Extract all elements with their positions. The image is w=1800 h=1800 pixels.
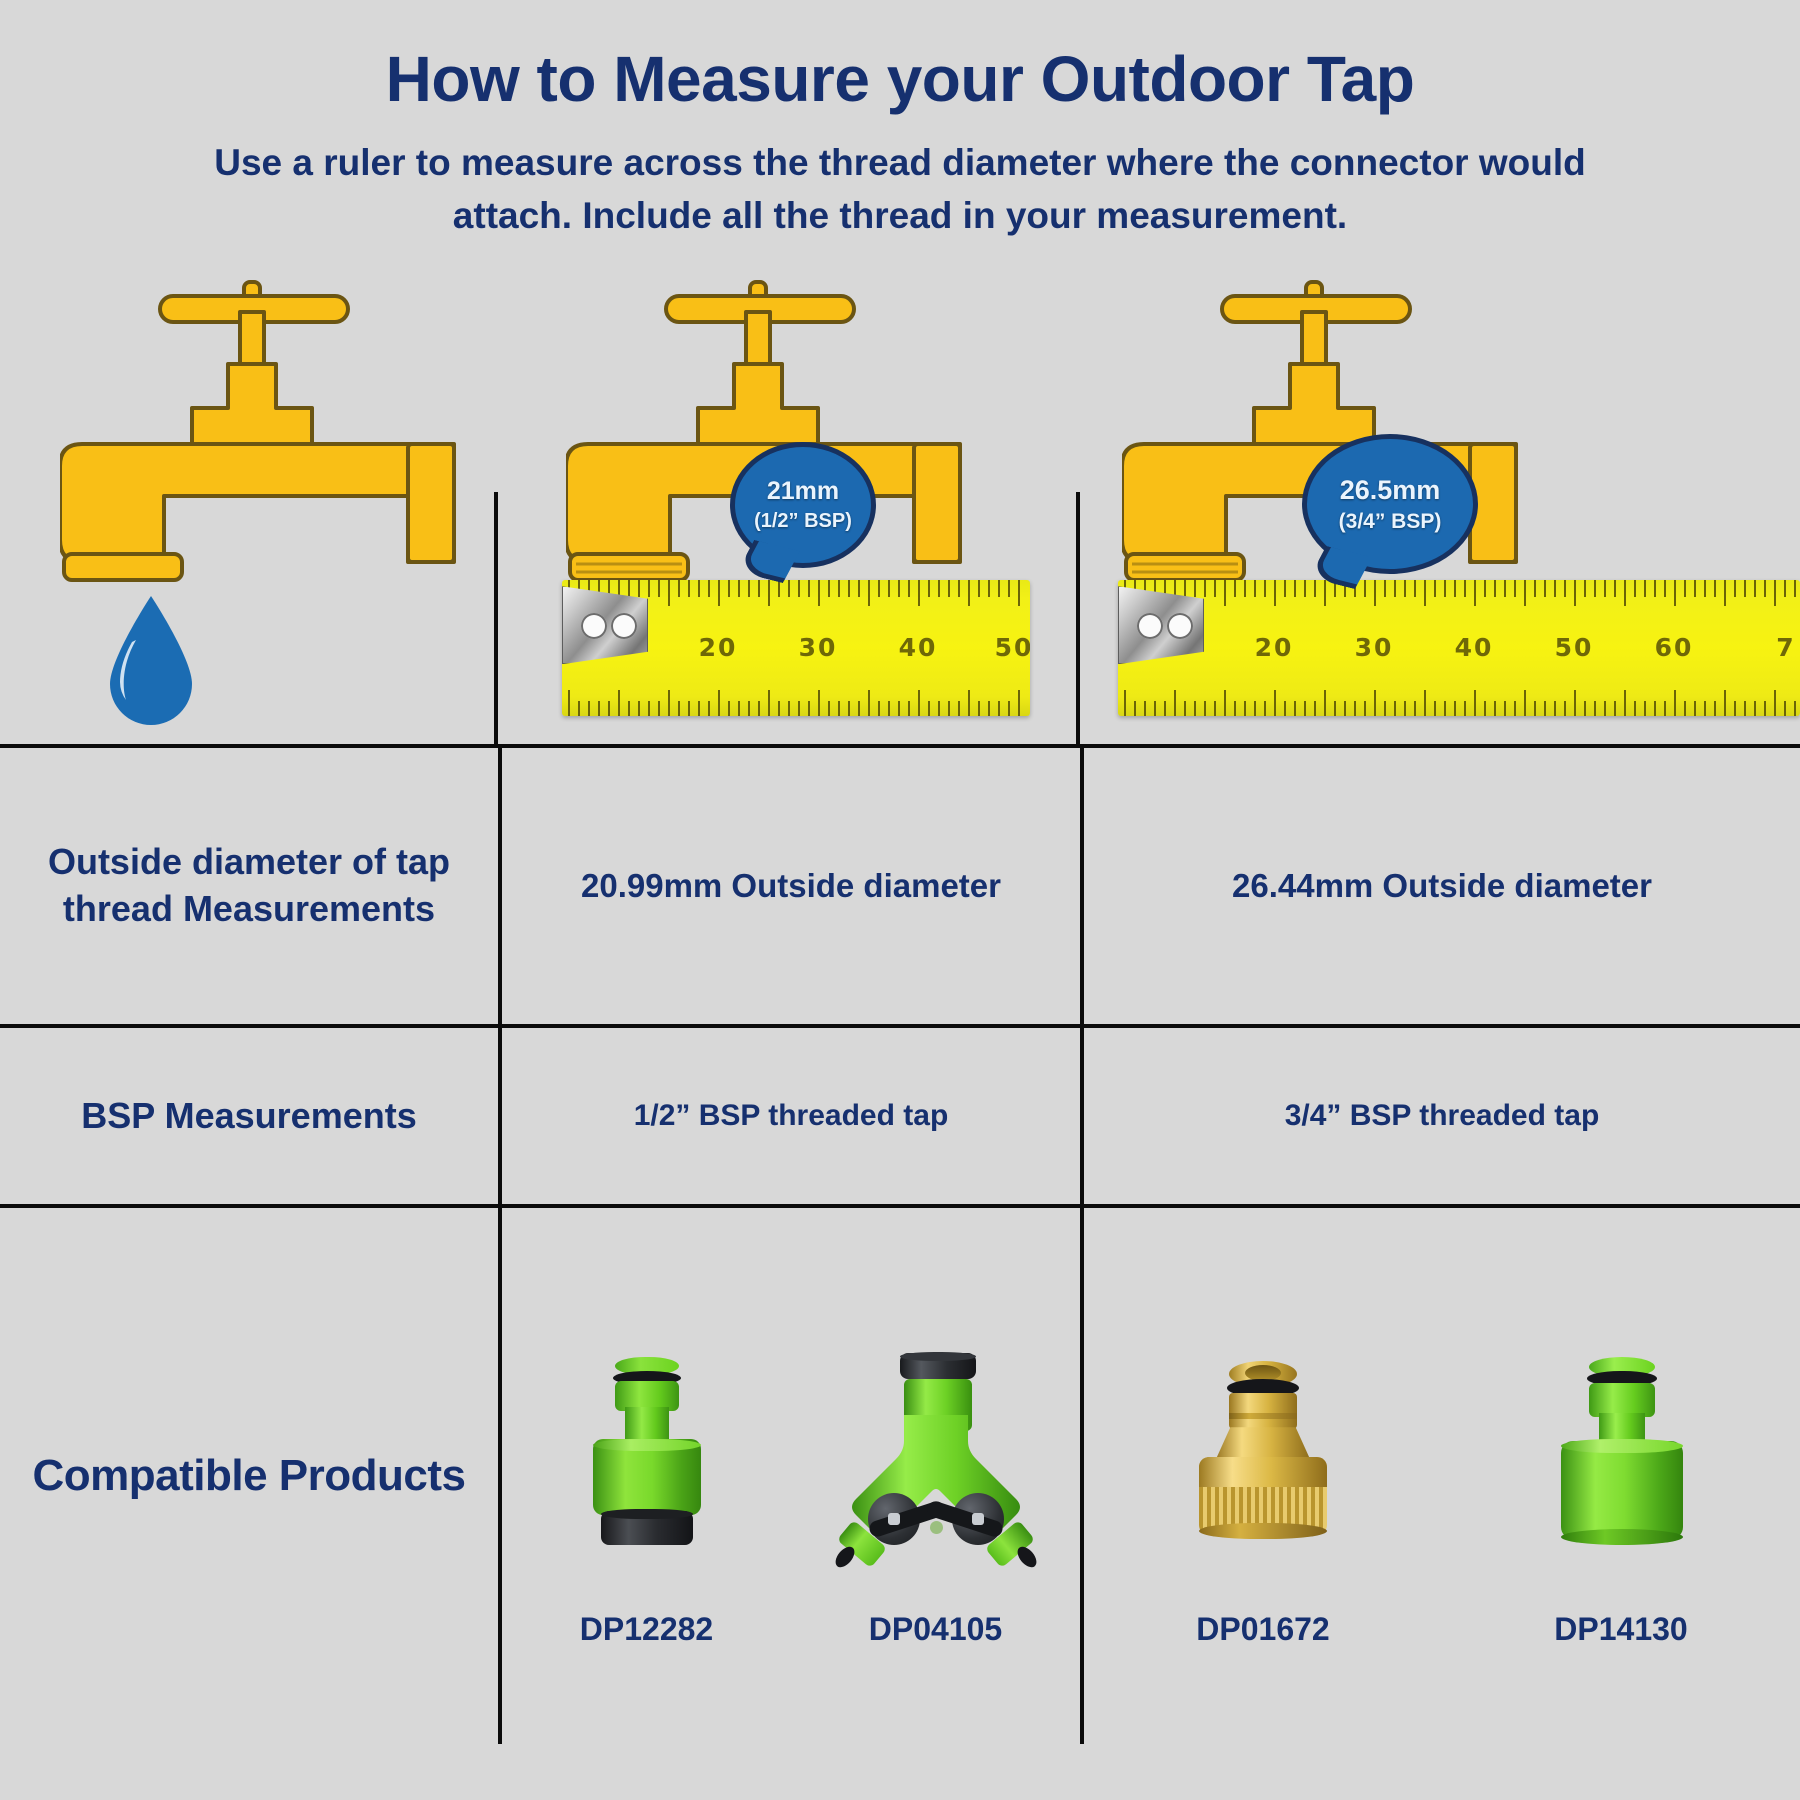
tape-ticks-bottom bbox=[1118, 690, 1800, 716]
product-dp12282[interactable]: DP12282 bbox=[547, 1353, 747, 1648]
cell-outside-diameter-three-quarter: 26.44mm Outside diameter bbox=[1080, 748, 1800, 1024]
tape-measure-half-inch: 20 30 40 50 bbox=[562, 580, 1030, 716]
bubble-main-value: 26.5mm bbox=[1340, 477, 1441, 504]
tape-ticks-top bbox=[1118, 580, 1800, 606]
tape-number: 20 bbox=[1255, 633, 1294, 662]
green-tap-connector-image bbox=[547, 1353, 747, 1593]
tape-number: 50 bbox=[995, 633, 1030, 662]
tape-hook-icon bbox=[562, 586, 648, 664]
comparison-table: Outside diameter of tap thread Measureme… bbox=[0, 744, 1800, 1744]
table-divider-left-upper bbox=[494, 492, 498, 744]
cell-products-three-quarter: DP01672 DP14130 bbox=[1080, 1208, 1800, 1744]
tape-measure-three-quarter: 20 30 40 50 60 7 bbox=[1118, 580, 1800, 716]
row-label-compatible-products: Compatible Products bbox=[0, 1208, 498, 1744]
tape-number: 50 bbox=[1555, 633, 1594, 662]
tape-number: 30 bbox=[799, 633, 838, 662]
tape-number: 30 bbox=[1355, 633, 1394, 662]
green-y-splitter-image bbox=[836, 1353, 1036, 1593]
table-row: Outside diameter of tap thread Measureme… bbox=[0, 744, 1800, 1024]
header: How to Measure your Outdoor Tap Use a ru… bbox=[0, 0, 1800, 242]
product-dp04105[interactable]: DP04105 bbox=[836, 1353, 1036, 1648]
tape-number: 60 bbox=[1655, 633, 1694, 662]
tape-number: 40 bbox=[1455, 633, 1494, 662]
bubble-main-value: 21mm bbox=[767, 479, 839, 504]
cell-products-half-inch: DP12282 bbox=[498, 1208, 1080, 1744]
tape-number: 40 bbox=[899, 633, 938, 662]
tape-number: 20 bbox=[699, 633, 738, 662]
product-code: DP14130 bbox=[1554, 1611, 1687, 1648]
page-title: How to Measure your Outdoor Tap bbox=[0, 46, 1800, 113]
illustration-band: 21mm (1/2” BSP) bbox=[0, 264, 1800, 744]
bubble-half-inch: 21mm (1/2” BSP) bbox=[730, 442, 876, 568]
tape-numbers-three-quarter: 20 30 40 50 60 7 bbox=[1118, 633, 1800, 663]
brass-tap-connector-image bbox=[1163, 1353, 1363, 1593]
water-drop-icon bbox=[96, 592, 206, 732]
tap-icon bbox=[60, 272, 480, 582]
cell-bsp-half-inch: 1/2” BSP threaded tap bbox=[498, 1028, 1080, 1204]
cell-bsp-three-quarter: 3/4” BSP threaded tap bbox=[1080, 1028, 1800, 1204]
table-row: Compatible Products bbox=[0, 1204, 1800, 1744]
green-tap-adaptor-image bbox=[1521, 1353, 1721, 1593]
tape-hook-icon bbox=[1118, 586, 1204, 664]
product-code: DP01672 bbox=[1196, 1611, 1329, 1648]
cell-outside-diameter-half-inch: 20.99mm Outside diameter bbox=[498, 748, 1080, 1024]
table-row: BSP Measurements 1/2” BSP threaded tap 3… bbox=[0, 1024, 1800, 1204]
product-dp14130[interactable]: DP14130 bbox=[1521, 1353, 1721, 1648]
page-subtitle: Use a ruler to measure across the thread… bbox=[150, 137, 1650, 242]
bubble-three-quarter: 26.5mm (3/4” BSP) bbox=[1302, 434, 1478, 574]
tape-number: 7 bbox=[1776, 633, 1795, 662]
product-code: DP04105 bbox=[869, 1611, 1002, 1648]
tape-ticks-bottom bbox=[562, 690, 1030, 716]
product-dp01672[interactable]: DP01672 bbox=[1163, 1353, 1363, 1648]
row-label-outside-diameter: Outside diameter of tap thread Measureme… bbox=[0, 748, 498, 1024]
bubble-sub-value: (3/4” BSP) bbox=[1339, 511, 1442, 532]
product-code: DP12282 bbox=[580, 1611, 713, 1648]
row-label-bsp-measurements: BSP Measurements bbox=[0, 1028, 498, 1204]
table-divider-right-upper bbox=[1076, 492, 1080, 744]
bubble-sub-value: (1/2” BSP) bbox=[754, 511, 852, 531]
